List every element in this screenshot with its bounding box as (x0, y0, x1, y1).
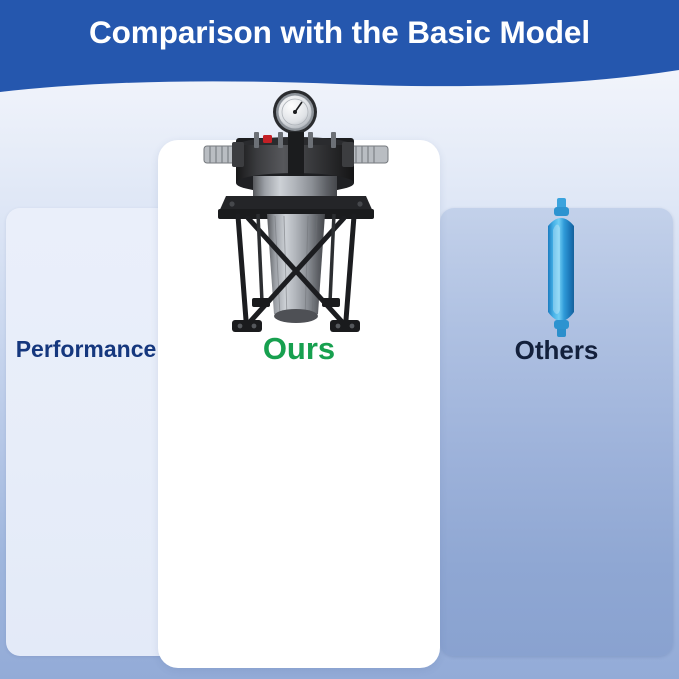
whole-house-water-filter-image (196, 88, 396, 340)
inline-filter-cartridge-image (539, 198, 583, 340)
page-title: Comparison with the Basic Model (0, 14, 679, 51)
column-header-performance: Performance (6, 336, 166, 363)
header-banner: Comparison with the Basic Model (0, 0, 679, 98)
comparison-infographic: Comparison with the Basic Model Performa… (0, 0, 679, 679)
column-header-ours: Ours (158, 331, 440, 367)
column-header-others: Others (440, 335, 673, 366)
inlet-port (204, 142, 244, 167)
outlet-port (342, 142, 388, 167)
